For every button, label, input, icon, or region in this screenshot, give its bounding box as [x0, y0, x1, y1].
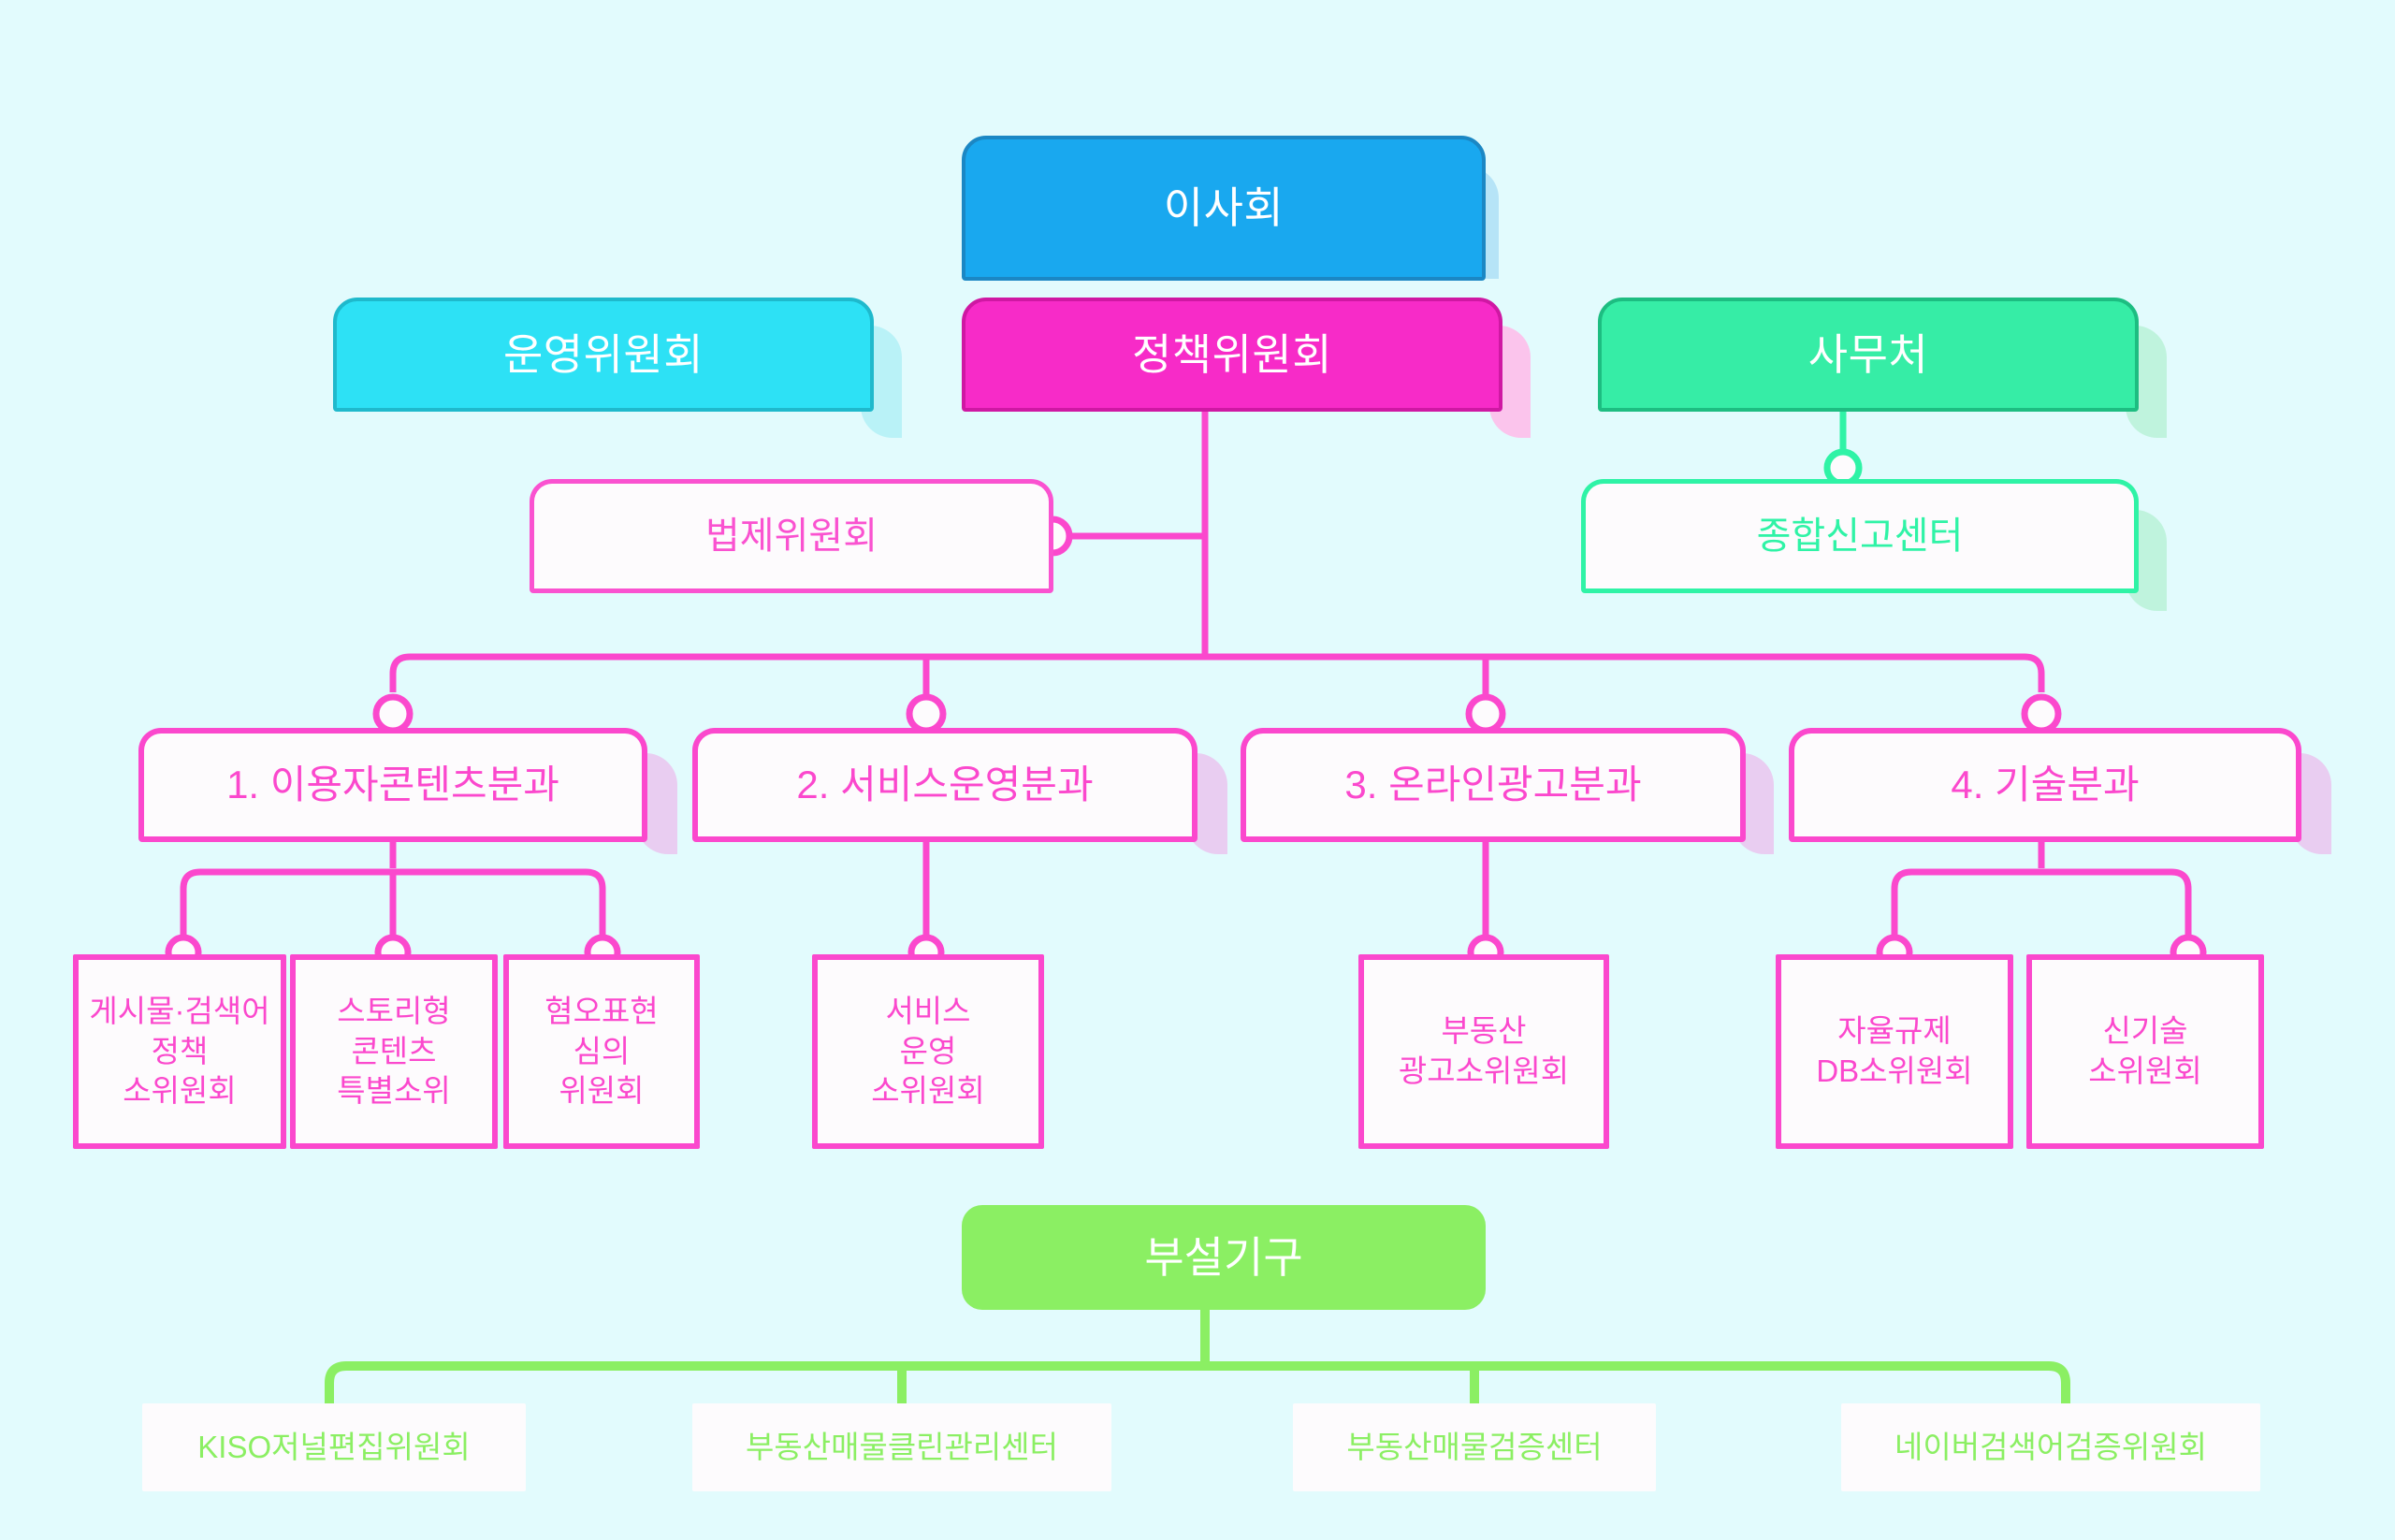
- node-subcommittee-3[interactable]: 혐오표현 심의 위원회: [503, 954, 700, 1149]
- node-subcommittee-2[interactable]: 스토리형 콘텐츠 특별소위: [290, 954, 498, 1149]
- connector-node-division-4: [2025, 697, 2058, 731]
- node-report-center[interactable]: 종합신고센터: [1581, 479, 2139, 593]
- node-division-2[interactable]: 2. 서비스운영분과: [692, 728, 1197, 842]
- node-subcommittee-4[interactable]: 서비스 운영 소위원회: [812, 954, 1044, 1149]
- node-policy-committee[interactable]: 정책위원회: [962, 298, 1502, 412]
- node-subcommittee-5[interactable]: 부동산 광고소위원회: [1358, 954, 1609, 1149]
- node-board-of-directors[interactable]: 이사회: [962, 136, 1486, 281]
- connector-node-division-1: [376, 697, 410, 731]
- connector-node-division-2: [909, 697, 943, 731]
- node-affiliated-header[interactable]: 부설기구: [962, 1205, 1486, 1310]
- node-secretariat[interactable]: 사무처: [1598, 298, 2139, 412]
- node-steering-committee[interactable]: 운영위원회: [333, 298, 874, 412]
- node-division-3[interactable]: 3. 온라인광고분과: [1241, 728, 1746, 842]
- connector-node-division-3: [1469, 697, 1502, 731]
- node-subcommittee-7[interactable]: 신기술 소위원회: [2026, 954, 2264, 1149]
- node-affiliate-4[interactable]: 네이버검색어검증위원회: [1841, 1403, 2260, 1491]
- org-chart-canvas: 이사회 운영위원회 정책위원회 사무처 법제위원회 종합신고센터 1. 이용자콘…: [0, 0, 2395, 1540]
- node-affiliate-3[interactable]: 부동산매물검증센터: [1293, 1403, 1656, 1491]
- node-subcommittee-1[interactable]: 게시물·검색어 정책 소위원회: [73, 954, 286, 1149]
- node-subcommittee-6[interactable]: 자율규제 DB소위원회: [1776, 954, 2013, 1149]
- node-division-4[interactable]: 4. 기술분과: [1789, 728, 2301, 842]
- node-legislation-committee[interactable]: 법제위원회: [530, 479, 1053, 593]
- node-division-1[interactable]: 1. 이용자콘텐츠분과: [138, 728, 647, 842]
- node-affiliate-1[interactable]: KISO저널편집위원회: [142, 1403, 526, 1491]
- node-affiliate-2[interactable]: 부동산매물클린관리센터: [692, 1403, 1111, 1491]
